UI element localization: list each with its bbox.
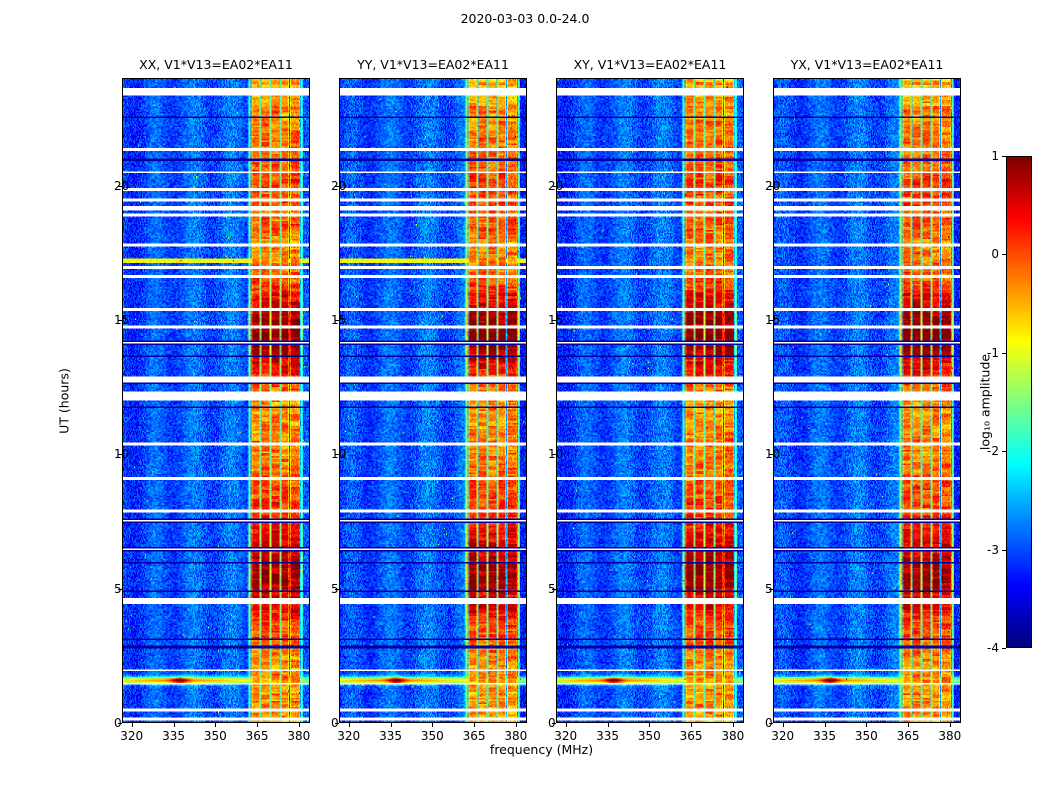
colorbar [1006,156,1032,648]
x-tick-label: 320 [120,729,143,743]
panel-yx: YX, V1*V13=EA02*EA11 [773,78,961,723]
y-tick-mark [335,186,339,187]
x-tick-mark [391,723,392,727]
x-tick-label: 380 [287,729,310,743]
y-tick-mark [552,723,556,724]
y-tick-mark [552,589,556,590]
x-tick-mark [825,723,826,727]
panel-xy: XY, V1*V13=EA02*EA11 [556,78,744,723]
waterfall-plot-yy [339,78,527,723]
x-tick-label: 350 [855,729,878,743]
y-tick-mark [118,454,122,455]
colorbar-tick-mark [1002,451,1006,452]
y-tick-mark [335,454,339,455]
figure-canvas: 2020-03-03 0.0-24.0 XX, V1*V13=EA02*EA11… [0,0,1050,800]
x-tick-label: 365 [246,729,269,743]
colorbar-tick-mark [1002,156,1006,157]
colorbar-tick-label: 0 [991,247,999,261]
x-tick-mark [299,723,300,727]
panel-xx: XX, V1*V13=EA02*EA11 [122,78,310,723]
y-tick-mark [118,186,122,187]
x-tick-mark [649,723,650,727]
colorbar-tick-label: -2 [987,444,999,458]
x-tick-mark [257,723,258,727]
x-tick-label: 350 [204,729,227,743]
waterfall-plot-xy [556,78,744,723]
x-tick-label: 365 [897,729,920,743]
x-tick-mark [516,723,517,727]
colorbar-tick-label: 1 [991,149,999,163]
y-axis-label: UT (hours) [57,368,72,434]
x-tick-label: 335 [813,729,836,743]
x-tick-mark [908,723,909,727]
x-tick-label: 380 [504,729,527,743]
x-tick-mark [733,723,734,727]
x-tick-mark [349,723,350,727]
y-tick-mark [118,723,122,724]
x-tick-mark [432,723,433,727]
x-tick-mark [174,723,175,727]
y-tick-mark [118,589,122,590]
colorbar-tick-mark [1002,550,1006,551]
y-tick-mark [335,723,339,724]
y-tick-mark [769,589,773,590]
x-tick-label: 380 [938,729,961,743]
x-tick-mark [566,723,567,727]
x-tick-mark [215,723,216,727]
x-tick-label: 320 [554,729,577,743]
x-tick-label: 320 [337,729,360,743]
waterfall-plot-yx [773,78,961,723]
colorbar-tick-label: -4 [987,641,999,655]
colorbar-label: log₁₀ amplitude [978,354,993,450]
x-tick-mark [474,723,475,727]
x-tick-label: 335 [379,729,402,743]
y-tick-mark [335,320,339,321]
x-tick-label: 365 [680,729,703,743]
x-tick-label: 335 [162,729,185,743]
panel-title-xx: XX, V1*V13=EA02*EA11 [122,57,310,72]
y-tick-mark [769,723,773,724]
colorbar-tick-mark [1002,353,1006,354]
y-tick-mark [552,186,556,187]
x-tick-mark [866,723,867,727]
panel-title-xy: XY, V1*V13=EA02*EA11 [556,57,744,72]
x-tick-label: 320 [771,729,794,743]
x-tick-label: 380 [721,729,744,743]
x-tick-mark [950,723,951,727]
x-tick-label: 350 [421,729,444,743]
figure-suptitle: 2020-03-03 0.0-24.0 [0,11,1050,26]
panel-title-yx: YX, V1*V13=EA02*EA11 [773,57,961,72]
x-tick-label: 335 [596,729,619,743]
x-axis-label: frequency (MHz) [490,742,593,757]
colorbar-tick-label: -3 [987,543,999,557]
y-tick-mark [552,320,556,321]
x-tick-mark [783,723,784,727]
y-tick-mark [552,454,556,455]
y-tick-mark [118,320,122,321]
x-tick-label: 350 [638,729,661,743]
y-tick-mark [769,186,773,187]
panel-yy: YY, V1*V13=EA02*EA11 [339,78,527,723]
x-tick-mark [132,723,133,727]
waterfall-plot-xx [122,78,310,723]
colorbar-tick-mark [1002,254,1006,255]
y-tick-mark [769,454,773,455]
colorbar-tick-mark [1002,648,1006,649]
x-tick-mark [608,723,609,727]
y-tick-mark [769,320,773,321]
x-tick-label: 365 [463,729,486,743]
x-tick-mark [691,723,692,727]
y-tick-mark [335,589,339,590]
colorbar-tick-label: -1 [987,346,999,360]
panel-title-yy: YY, V1*V13=EA02*EA11 [339,57,527,72]
